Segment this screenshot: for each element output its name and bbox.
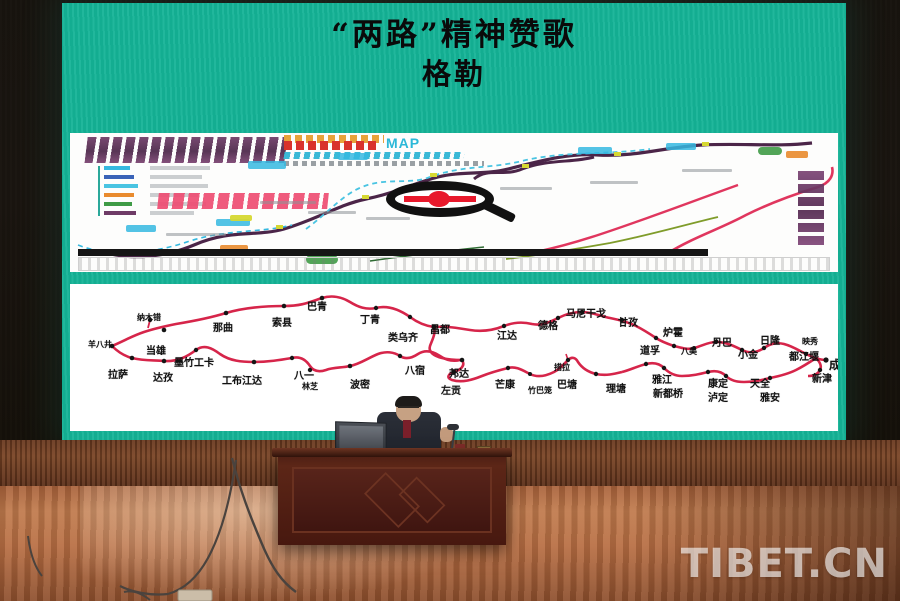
city-label: 左贡: [441, 382, 461, 397]
city-label: 日隆: [760, 332, 780, 347]
city-label: 江达: [497, 327, 517, 342]
city-label: 新都桥: [653, 385, 683, 400]
city-label: 泸定: [708, 389, 728, 404]
map-inner: MAP: [70, 133, 838, 272]
city-label: 类乌齐: [388, 329, 418, 344]
map-bottom-panel: [78, 257, 830, 271]
city-label: 巴塘: [557, 376, 577, 391]
site-watermark: TIBET.CN: [681, 541, 888, 587]
city-label: 雅安: [760, 389, 780, 404]
map-caption-text: [500, 187, 552, 190]
city-label: 林芝: [302, 381, 318, 392]
city-label: 巴青: [307, 298, 327, 313]
city-label: 邦达: [449, 365, 469, 380]
city-label: 德格: [538, 317, 558, 332]
map-green-label: [758, 147, 782, 155]
city-label: 理塘: [606, 380, 626, 395]
city-label: 措拉: [554, 362, 570, 373]
map-caption-text: [308, 211, 356, 214]
map-caption-text: [260, 201, 316, 204]
slide-title-line1: “两路”精神赞歌: [62, 15, 846, 55]
city-label: 炉霍: [663, 324, 683, 339]
city-label: 墨竹工卡: [174, 354, 214, 369]
city-label: 新津: [812, 370, 832, 385]
city-label: 昌都: [430, 321, 450, 336]
city-label: 天全: [750, 375, 770, 390]
city-label: 竹巴笼: [528, 385, 552, 396]
map-yellow-label: [230, 215, 252, 221]
speaker-glasses: [398, 406, 419, 410]
map-blue-label: [666, 143, 696, 150]
slide-title: “两路”精神赞歌 格勒: [62, 15, 846, 93]
slide-map-image: MAP: [70, 133, 838, 272]
city-label: 波密: [350, 376, 370, 391]
city-label: 丹巴: [712, 334, 732, 349]
city-label: 丁青: [360, 311, 380, 326]
magnifier-dot: [428, 191, 450, 207]
speaker-tie: [403, 420, 411, 438]
city-label: 那曲: [213, 319, 233, 334]
projection-screen: “两路”精神赞歌 格勒 MAP: [62, 3, 846, 440]
screenshot-root: “两路”精神赞歌 格勒 MAP: [0, 0, 900, 601]
city-label: 拉萨: [108, 366, 128, 381]
map-caption-text: [166, 233, 226, 236]
city-label: 当雄: [146, 342, 166, 357]
city-label: 八一: [294, 367, 314, 382]
map-bottom-band: [78, 249, 708, 256]
city-label: 小金: [738, 346, 758, 361]
city-label: 八宿: [405, 362, 425, 377]
slide-title-line2: 格勒: [62, 55, 846, 93]
map-blue-label: [126, 225, 156, 232]
city-label: 芒康: [495, 376, 515, 391]
city-label: 索县: [272, 314, 292, 329]
map-orange-label: [786, 151, 808, 158]
city-label: 马尼干戈: [566, 305, 606, 320]
city-label: 甘孜: [618, 314, 638, 329]
city-label: 康定: [708, 375, 728, 390]
map-blue-label: [578, 147, 612, 154]
map-blue-label: [338, 153, 368, 160]
slide-route-diagram: 纳木错羊八井当雄拉萨达孜墨竹工卡工布江达八一林芝那曲索县巴青丁青类乌齐昌都江达德…: [70, 284, 838, 431]
map-caption-text: [682, 169, 732, 172]
map-caption-text: [366, 217, 410, 220]
city-label: 工布江达: [222, 372, 262, 387]
city-label: 映秀: [802, 336, 818, 347]
city-label: 纳木错: [137, 312, 161, 323]
city-label: 道孚: [640, 342, 660, 357]
map-vertical-title-graphic: [798, 171, 824, 249]
city-label: 达孜: [153, 369, 173, 384]
map-caption-text: [590, 181, 638, 184]
map-blue-label: [248, 161, 286, 169]
city-label: 都江堰: [789, 348, 819, 363]
city-label: 雅江: [652, 371, 672, 386]
city-label: 羊八井: [88, 339, 112, 350]
city-label: 八美: [681, 346, 697, 357]
microphone-head: [447, 424, 459, 430]
